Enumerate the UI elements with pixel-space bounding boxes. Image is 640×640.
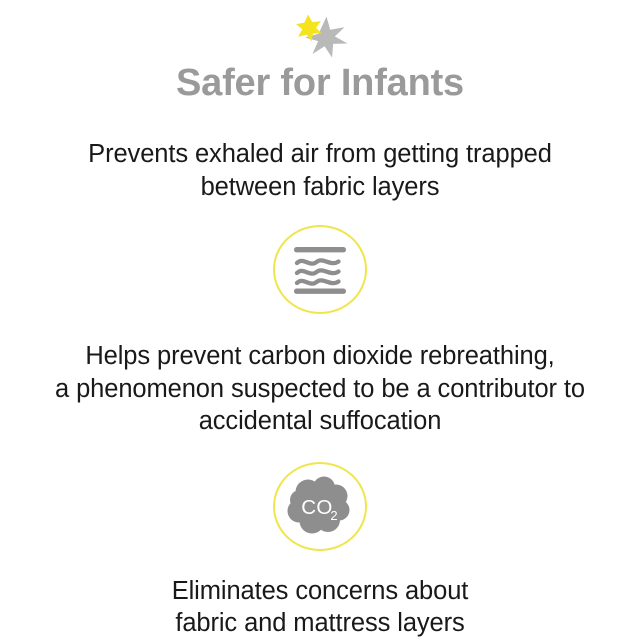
brand-logo: [285, 12, 355, 62]
co2-icon-badge: CO 2: [273, 462, 367, 551]
co2-label-subscript: 2: [330, 508, 337, 523]
co2-cloud-icon: CO 2: [284, 473, 356, 539]
safer-for-infants-infographic: Safer for Infants Prevents exhaled air f…: [0, 0, 640, 640]
statement-layer-concerns: Eliminates concerns about fabric and mat…: [20, 575, 620, 640]
fabric-layer-bottom-bar: [294, 288, 346, 293]
statement-line: a phenomenon suspected to be a contribut…: [20, 373, 620, 406]
statement-line: Prevents exhaled air from getting trappe…: [20, 138, 620, 171]
statement-line: between fabric layers: [20, 171, 620, 204]
fabric-layer-top-bar: [294, 247, 346, 252]
statement-breathability: Prevents exhaled air from getting trappe…: [20, 138, 620, 203]
airflow-waves: [297, 260, 339, 283]
statement-line: Eliminates concerns about: [20, 575, 620, 608]
statement-line: fabric and mattress layers: [20, 607, 620, 640]
double-star-icon: [285, 12, 355, 62]
statement-co2-rebreathing: Helps prevent carbon dioxide rebreathing…: [20, 340, 620, 438]
airflow-between-layers-icon: [289, 239, 351, 301]
statement-line: accidental suffocation: [20, 405, 620, 438]
statement-line: Helps prevent carbon dioxide rebreathing…: [20, 340, 620, 373]
co2-label-main: CO: [301, 496, 333, 519]
airflow-icon-badge: [273, 225, 367, 314]
page-title: Safer for Infants: [176, 64, 464, 104]
